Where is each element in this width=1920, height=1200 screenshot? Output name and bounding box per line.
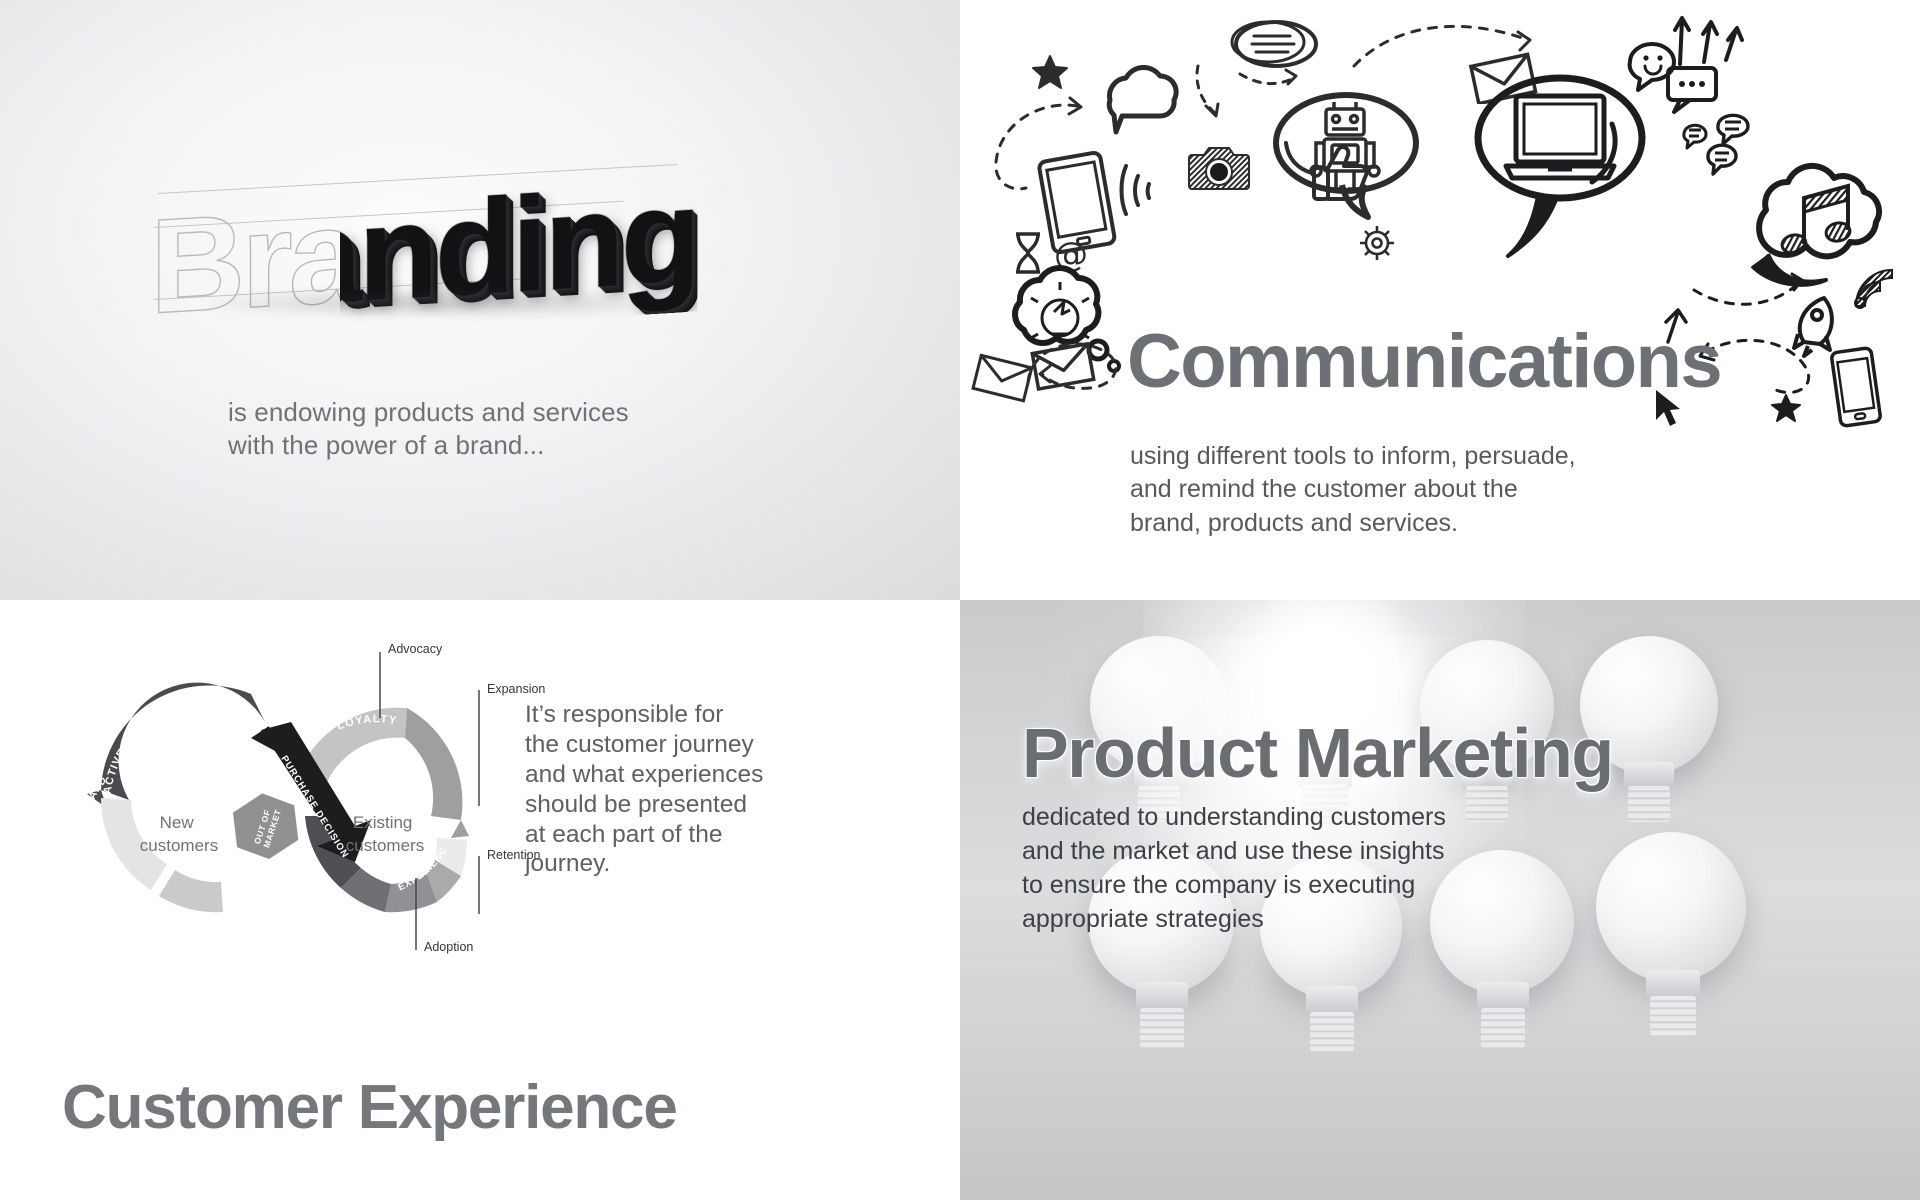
communications-subtitle: using different tools to inform, persuad… (1130, 440, 1576, 540)
communications-subtitle-line-3: brand, products and services. (1130, 507, 1576, 540)
callout-adoption: Adoption (424, 940, 473, 954)
cx-paragraph-line-5: at each part of the (525, 820, 785, 850)
thumbs-up-icon (1312, 142, 1370, 202)
segment-expansion (405, 708, 462, 820)
branding-subtitle: is endowing products and services with t… (228, 396, 629, 463)
right-hub-label-line-2: customers (346, 836, 424, 855)
communications-subtitle-line-2: and remind the customer about the (1130, 473, 1576, 506)
callout-advocacy: Advocacy (388, 642, 442, 656)
cx-paragraph-line-4: should be presented (525, 790, 785, 820)
camera-icon (1188, 142, 1250, 194)
customer-journey-diagram: ACTIVE EVALUATION INITIAL BRAND CONSIDER… (55, 630, 575, 960)
product-marketing-subtitle: dedicated to understanding customers and… (1022, 800, 1446, 936)
branding-drop-shadow (205, 290, 635, 316)
left-hub-label-line-2: customers (140, 836, 218, 855)
pm-subtitle-line-2: and the market and use these insights (1022, 834, 1446, 868)
cx-paragraph-line-2: the customer journey (525, 730, 785, 760)
laptop-speech-bubble-icon (1460, 58, 1680, 258)
marketing-poster-grid: Branding Branding is endowing products a… (0, 0, 1920, 1200)
callout-expansion: Expansion (487, 682, 545, 696)
out-of-market-badge: OUT OF MARKET (223, 785, 309, 868)
left-ring: ACTIVE EVALUATION INITIAL BRAND CONSIDER… (55, 630, 265, 912)
pm-subtitle-line-3: to ensure the company is executing (1022, 868, 1446, 902)
segment-label-initial-brand-consideration: INITIAL BRAND CONSIDERATION (55, 630, 110, 859)
customer-experience-title: Customer Experience (62, 1072, 677, 1143)
panel-branding: Branding Branding is endowing products a… (0, 0, 960, 600)
communications-title: Communications (960, 318, 1904, 405)
panel-product-marketing: Product Marketing dedicated to understan… (960, 600, 1920, 1200)
pm-subtitle-line-1: dedicated to understanding customers (1022, 800, 1446, 834)
star-icon (1030, 52, 1070, 92)
segment-trigger (159, 870, 223, 912)
wifi-icon (1850, 264, 1898, 312)
branding-subtitle-line-1: is endowing products and services (228, 396, 629, 429)
panel-communications: @ (960, 0, 1920, 600)
sound-waves-icon (1118, 160, 1168, 220)
product-marketing-title: Product Marketing (1022, 713, 1613, 793)
left-hub-label: New customers (140, 813, 218, 855)
right-hub-label-line-1: Existing (353, 813, 413, 832)
pm-subtitle-line-4: appropriate strategies (1022, 902, 1446, 936)
panel-customer-experience: ACTIVE EVALUATION INITIAL BRAND CONSIDER… (0, 600, 960, 1200)
cx-paragraph-line-6: journey. (525, 849, 785, 879)
customer-experience-paragraph: It’s responsible for the customer journe… (525, 700, 785, 879)
speech-cloud-icon (1080, 60, 1200, 160)
left-hub-label-line-1: New (160, 813, 195, 832)
cx-paragraph-line-3: and what experiences (525, 760, 785, 790)
cx-paragraph-line-1: It’s responsible for (525, 700, 785, 730)
communications-subtitle-line-1: using different tools to inform, persuad… (1130, 440, 1576, 473)
branding-subtitle-line-2: with the power of a brand... (228, 429, 629, 462)
gear-icon (1356, 222, 1398, 264)
